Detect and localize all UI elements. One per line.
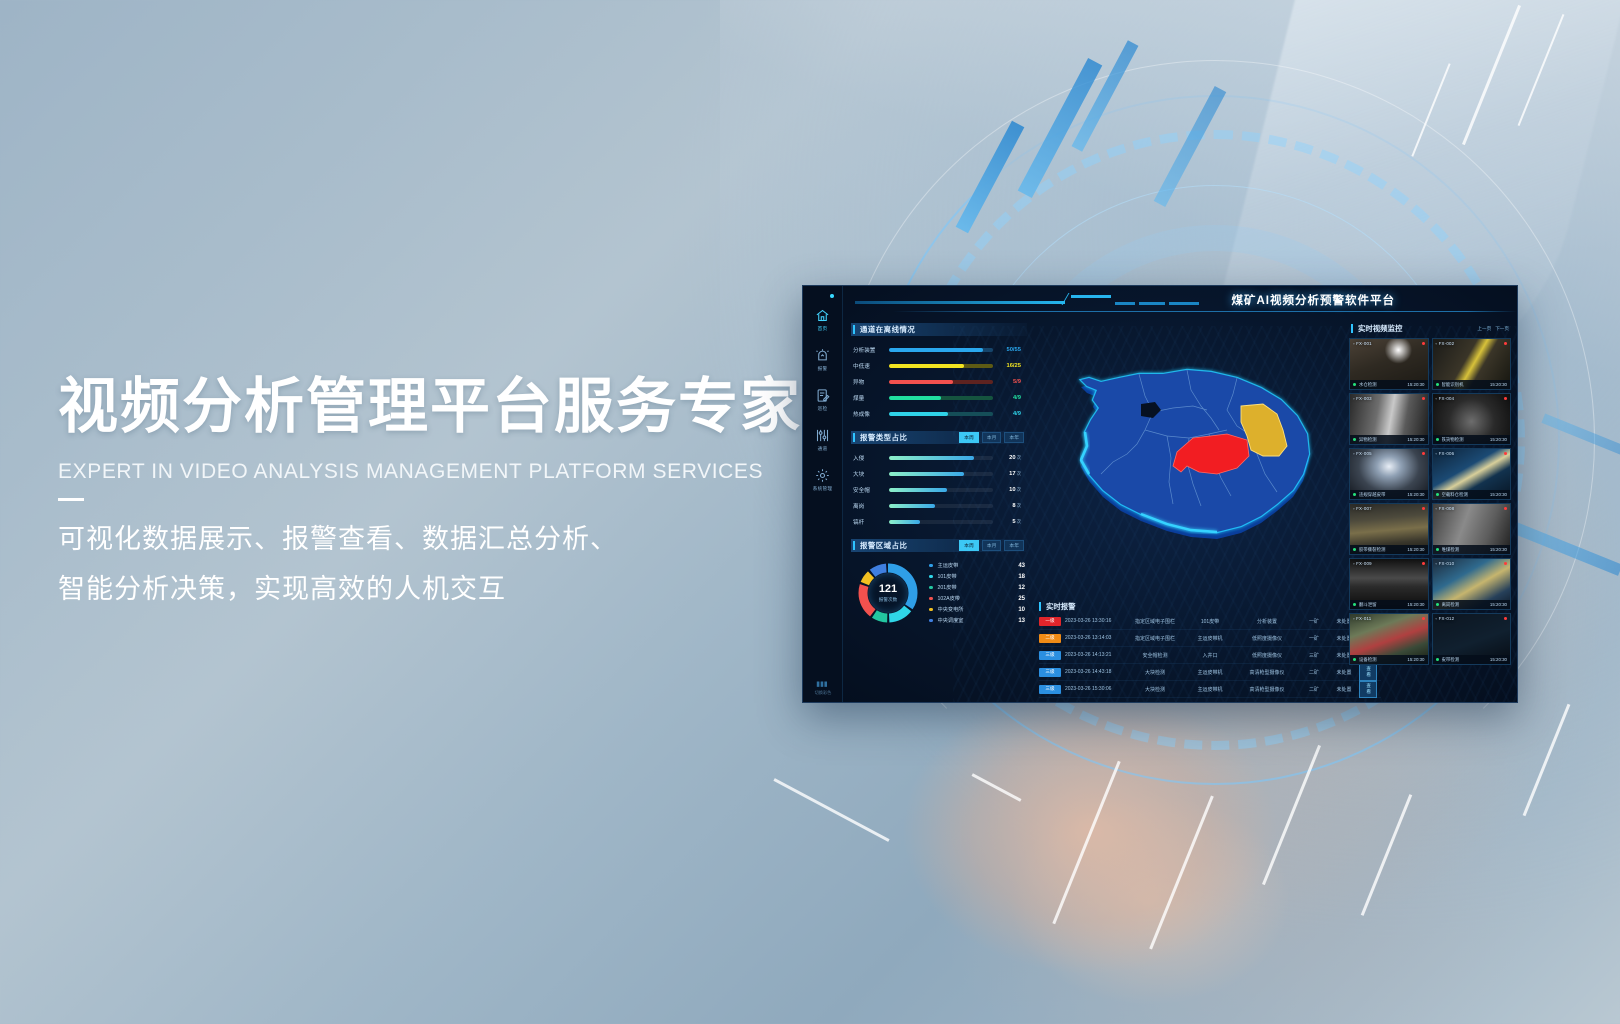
legend-label: 主运皮带 [938, 562, 1019, 569]
alarm-device: 分析装置 [1235, 618, 1299, 625]
alarm-type-track [889, 456, 993, 461]
channel-bar-fill [889, 396, 941, 401]
alarm-type: 安全帽检测 [1125, 652, 1185, 659]
alarm-type-track [889, 504, 993, 509]
realtime-alarm-title: 实时报警 [1046, 601, 1076, 612]
sidebar-item-label: 首页 [804, 326, 842, 332]
channel-bar-track [889, 412, 993, 417]
channel-bar-row: 分析装置50/55 [853, 342, 1023, 358]
video-id-label: ▫ FX-007 [1353, 506, 1372, 511]
hero-subtitle: EXPERT IN VIDEO ANALYSIS MANAGEMENT PLAT… [58, 460, 818, 484]
header-seg-3 [1169, 302, 1199, 305]
video-time-label: 15:20:30 [1490, 657, 1507, 662]
sidebar-item-label: 报警 [804, 366, 842, 372]
channel-panel-title: 通道在离线情况 [860, 324, 915, 335]
legend-value: 13 [1018, 618, 1025, 624]
alarm-area-tabs: 本周本月本年 [959, 540, 1027, 551]
video-footer: 翻斗泄留15:20:30 [1350, 600, 1428, 609]
dashboard-main: 通道在离线情况 分析装置50/55中低速16/25异物5/9煤量4/9热成像4/… [843, 286, 1517, 702]
online-status-icon [1353, 658, 1356, 661]
legend-color-dot [929, 597, 933, 601]
sidebar-footer[interactable]: ▮▮▮ 切换彩色 [803, 675, 843, 696]
channel-bar-track [889, 348, 993, 353]
alarm-type-value: 8次 [993, 503, 1023, 509]
alarm-type-track [889, 488, 993, 493]
channel-bar-value: 4/9 [993, 395, 1023, 401]
alarm-device: 高清枪型摄像仪 [1235, 686, 1299, 693]
video-name-label: 空载料仓检测 [1442, 492, 1490, 498]
legend-label: 102A皮带 [938, 595, 1019, 602]
alarm-time: 2023-03-26 14:43:18 [1065, 669, 1125, 675]
alarm-type-fill [889, 520, 920, 525]
video-tile[interactable]: ▫ FX-010离岗检测15:20:30 [1432, 558, 1512, 610]
alarm-location: 主运皮带机 [1185, 635, 1235, 642]
channel-bar-fill [889, 348, 983, 353]
channel-bar-track [889, 380, 993, 385]
video-time-label: 15:20:30 [1407, 492, 1424, 497]
video-time-label: 15:20:30 [1490, 437, 1507, 442]
dashboard-title: 煤矿AI视频分析预警软件平台 [1232, 292, 1396, 308]
dashboard-monitor: 首页报警巡检通道系统管理 ▮▮▮ 切换彩色 煤矿AI视频分析预警软件平台 [802, 285, 1518, 703]
panel-tick-icon [853, 433, 855, 442]
video-time-label: 15:20:30 [1407, 382, 1424, 387]
channel-bar-value: 5/9 [993, 379, 1023, 385]
table-row: 三级2023-03-26 14:13:21安全帽检测入井口低照度摄像仪三矿未处置… [1039, 647, 1381, 664]
legend-value: 18 [1018, 574, 1025, 580]
video-time-label: 15:20:30 [1490, 382, 1507, 387]
alarm-type: 大块检测 [1125, 669, 1185, 676]
video-name-label: 设备检测 [1359, 657, 1407, 663]
channel-bar-value: 16/25 [993, 363, 1023, 369]
alarm-time: 2023-03-26 13:14:03 [1065, 635, 1125, 641]
alarm-type-row: 大块17次 [853, 466, 1023, 482]
sidebar-item-2[interactable]: 报警 [804, 348, 842, 372]
next-page-button[interactable]: 下一页 [1495, 326, 1509, 332]
alarm-area-panel: 报警区域占比 本周本月本年 121 报警次数 主运皮带43101皮带18201皮… [851, 539, 1027, 630]
legend-value: 10 [1018, 607, 1025, 613]
recording-indicator-icon [1422, 562, 1425, 565]
video-name-label: 智能识别机 [1442, 382, 1490, 388]
channel-icon [804, 428, 842, 444]
alarm-type-tab[interactable]: 本月 [982, 432, 1002, 443]
realtime-alarm-header: 实时报警 [1039, 600, 1381, 613]
video-time-label: 15:20:30 [1407, 657, 1424, 662]
channel-bar-row: 中低速16/25 [853, 358, 1023, 374]
hero-divider [58, 498, 84, 501]
online-status-icon [1436, 548, 1439, 551]
recording-indicator-icon [1504, 562, 1507, 565]
panel-tick-icon [853, 541, 855, 550]
center-column: 实时报警 一级2023-03-26 13:30:16指定区域电子围栏101皮带分… [1033, 320, 1345, 702]
donut-legend-row: 中央变电所10 [929, 604, 1025, 615]
decor-bar-8 [1541, 414, 1620, 457]
table-row: 三级2023-03-26 15:30:06大块检测主运皮带机高清枪型摄像仪二矿未… [1039, 681, 1381, 698]
online-status-icon [1353, 493, 1356, 496]
alarm-mine: 三矿 [1299, 652, 1329, 659]
video-tile[interactable]: ▫ FX-003异物检测15:20:30 [1349, 393, 1429, 445]
recording-indicator-icon [1504, 397, 1507, 400]
video-footer: 堆煤检测15:20:30 [1433, 545, 1511, 554]
alarm-type-label: 入侵 [853, 454, 889, 462]
header-underline [893, 311, 1517, 312]
legend-color-dot [929, 586, 933, 590]
video-time-label: 15:20:30 [1407, 602, 1424, 607]
dashboard-screen: 首页报警巡检通道系统管理 ▮▮▮ 切换彩色 煤矿AI视频分析预警软件平台 [803, 286, 1517, 702]
sidebar-item-3[interactable]: 巡检 [804, 388, 842, 412]
table-row: 一级2023-03-26 13:30:16指定区域电子围栏101皮带分析装置一矿… [1039, 613, 1381, 630]
video-pager: 上一页下一页 [1477, 326, 1511, 332]
alarm-type: 指定区域电子围栏 [1125, 635, 1185, 642]
recording-indicator-icon [1422, 507, 1425, 510]
alarm-location: 主运皮带机 [1185, 669, 1235, 676]
video-id-label: ▫ FX-004 [1436, 396, 1455, 401]
alarm-area-chart: 121 报警次数 主运皮带43101皮带18201皮带12102A皮带25中央变… [851, 552, 1027, 630]
panel-tick-icon [853, 325, 855, 334]
channel-status-panel: 通道在离线情况 分析装置50/55中低速16/25异物5/9煤量4/9热成像4/… [851, 323, 1027, 424]
online-status-icon [1436, 438, 1439, 441]
hero-desc-line-1: 可视化数据展示、报警查看、数据汇总分析、 [58, 515, 818, 565]
alarm-area-tab[interactable]: 本周 [959, 540, 979, 551]
channel-bar-label: 分析装置 [853, 346, 889, 354]
video-tile[interactable]: ▫ FX-005违规穿越皮带15:20:30 [1349, 448, 1429, 500]
legend-label: 201皮带 [938, 584, 1019, 591]
video-time-label: 15:20:30 [1490, 602, 1507, 607]
decor-streak-5 [1149, 795, 1214, 949]
table-row: 三级2023-03-26 14:43:18大块检测主运皮带机高清枪型摄像仪二矿未… [1039, 664, 1381, 681]
alarm-level-badge: 三级 [1039, 668, 1065, 677]
video-tile[interactable]: ▫ FX-006空载料仓检测15:20:30 [1432, 448, 1512, 500]
alarm-type-bar-list: 入侵20次大块17次安全帽10次离岗8次镐杆5次 [851, 444, 1027, 532]
alarm-device: 低照度摄像仪 [1235, 635, 1299, 642]
video-name-label: 胶带撕裂检测 [1359, 547, 1407, 553]
alarm-type-tab[interactable]: 本年 [1004, 432, 1024, 443]
alarm-mine: 一矿 [1299, 618, 1329, 625]
video-time-label: 15:20:30 [1490, 492, 1507, 497]
sidebar: 首页报警巡检通道系统管理 ▮▮▮ 切换彩色 [803, 286, 843, 702]
alarm-type-panel: 报警类型占比 本周本月本年 入侵20次大块17次安全帽10次离岗8次镐杆5次 [851, 431, 1027, 532]
decor-streak-3 [1411, 63, 1450, 156]
alarm-mine: 一矿 [1299, 635, 1329, 642]
legend-value: 25 [1018, 596, 1025, 602]
donut-legend-row: 201皮带12 [929, 582, 1025, 593]
alarm-level-badge: 三级 [1039, 685, 1065, 694]
alarm-type-label: 大块 [853, 470, 889, 478]
decor-streak-9 [1523, 704, 1571, 816]
video-footer: 违规穿越皮带15:20:30 [1350, 490, 1428, 499]
alarm-location: 入井口 [1185, 652, 1235, 659]
video-name-label: 翻斗泄留 [1359, 602, 1407, 608]
alarm-time: 2023-03-26 15:30:06 [1065, 686, 1125, 692]
realtime-alarm-rows: 一级2023-03-26 13:30:16指定区域电子围栏101皮带分析装置一矿… [1039, 613, 1381, 698]
sidebar-items: 首页报警巡检通道系统管理 [804, 308, 842, 492]
video-id-label: ▫ FX-009 [1353, 561, 1372, 566]
channel-bar-label: 中低速 [853, 362, 889, 370]
alarm-type-fill [889, 456, 974, 461]
decor-bar-1 [956, 121, 1025, 234]
decor-streak-10 [972, 773, 1022, 801]
video-footer: 智能识别机15:20:30 [1433, 380, 1511, 389]
online-status-icon [1436, 493, 1439, 496]
channel-bar-label: 煤量 [853, 394, 889, 402]
channel-bar-fill [889, 412, 948, 417]
alarm-type-track [889, 520, 993, 525]
video-id-label: ▫ FX-010 [1436, 561, 1455, 566]
realtime-alarm-table: 实时报警 一级2023-03-26 13:30:16指定区域电子围栏101皮带分… [1039, 600, 1381, 698]
alarm-location: 主运皮带机 [1185, 686, 1235, 693]
video-id-label: ▫ FX-003 [1353, 396, 1372, 401]
decor-streak-2 [1518, 14, 1565, 126]
video-id-label: ▫ FX-002 [1436, 341, 1455, 346]
recording-indicator-icon [1504, 507, 1507, 510]
alarm-type: 大块检测 [1125, 686, 1185, 693]
decor-bar-4 [1154, 86, 1227, 207]
alarm-type-label: 离岗 [853, 502, 889, 510]
alarm-device: 低照度摄像仪 [1235, 652, 1299, 659]
video-id-label: ▫ FX-011 [1353, 616, 1371, 621]
channel-bar-value: 50/55 [993, 347, 1023, 353]
home-icon [804, 308, 842, 324]
gear-icon [804, 468, 842, 484]
video-name-label: 堆煤检测 [1442, 547, 1490, 553]
video-name-label: 异物检测 [1359, 437, 1407, 443]
video-tile[interactable]: ▫ FX-002智能识别机15:20:30 [1432, 338, 1512, 390]
video-time-label: 15:20:30 [1407, 547, 1424, 552]
sidebar-item-label: 巡检 [804, 406, 842, 412]
alarm-type-row: 安全帽10次 [853, 482, 1023, 498]
legend-value: 12 [1018, 585, 1025, 591]
region-map[interactable] [1033, 326, 1345, 574]
video-footer: 铁货物检测15:20:30 [1433, 435, 1511, 444]
dashboard-header: 煤矿AI视频分析预警软件平台 [843, 286, 1517, 320]
video-tile[interactable]: ▫ FX-008堆煤检测15:20:30 [1432, 503, 1512, 555]
panel-tick-icon [1039, 602, 1041, 611]
alarm-type-label: 镐杆 [853, 518, 889, 526]
alarm-area-tab[interactable]: 本月 [982, 540, 1002, 551]
alarm-area-panel-header: 报警区域占比 本周本月本年 [851, 539, 1027, 552]
alarm-icon [804, 348, 842, 364]
recording-indicator-icon [1422, 452, 1425, 455]
header-accent-line-2 [1071, 295, 1111, 298]
video-grid: ▫ FX-001水仓检测15:20:30▫ FX-002智能识别机15:20:3… [1349, 338, 1511, 665]
video-name-label: 违规穿越皮带 [1359, 492, 1407, 498]
recording-indicator-icon [1422, 342, 1425, 345]
channel-bar-value: 4/9 [993, 411, 1023, 417]
right-column: 实时视频监控 上一页下一页 ▫ FX-001水仓检测15:20:30▫ FX-0… [1345, 320, 1517, 702]
left-column: 通道在离线情况 分析装置50/55中低速16/25异物5/9煤量4/9热成像4/… [843, 320, 1033, 702]
alarm-level-badge: 二级 [1039, 634, 1065, 643]
video-footer: 空载料仓检测15:20:30 [1433, 490, 1511, 499]
alarm-type-fill [889, 504, 935, 509]
alarm-type-row: 镐杆5次 [853, 514, 1023, 530]
prev-page-button[interactable]: 上一页 [1477, 326, 1491, 332]
channel-bar-track [889, 396, 993, 401]
video-time-label: 15:20:30 [1490, 547, 1507, 552]
donut-legend-row: 102A皮带25 [929, 593, 1025, 604]
legend-color-dot [929, 608, 933, 612]
table-row: 二级2023-03-26 13:14:03指定区域电子围栏主运皮带机低照度摄像仪… [1039, 630, 1381, 647]
video-tile[interactable]: ▫ FX-011设备检测15:20:30 [1349, 613, 1429, 665]
donut-legend-row: 主运皮带43 [929, 560, 1025, 571]
online-status-icon [1436, 383, 1439, 386]
alarm-level-badge: 一级 [1039, 617, 1065, 626]
legend-label: 中央调度室 [938, 617, 1019, 624]
region-map-svg [1041, 334, 1341, 570]
online-status-icon [1353, 548, 1356, 551]
legend-label: 101皮带 [938, 573, 1019, 580]
decor-streak-7 [1361, 794, 1412, 916]
hero-copy: 视频分析管理平台服务专家 EXPERT IN VIDEO ANALYSIS MA… [58, 375, 818, 615]
alarm-mine: 二矿 [1299, 669, 1329, 676]
legend-value: 43 [1018, 563, 1025, 569]
recording-indicator-icon [1504, 617, 1507, 620]
video-id-label: ▫ FX-008 [1436, 506, 1455, 511]
decor-bar-3 [1072, 40, 1139, 152]
alarm-area-panel-title: 报警区域占比 [860, 540, 907, 551]
alarm-time: 2023-03-26 14:13:21 [1065, 652, 1125, 658]
alarm-type-fill [889, 488, 947, 493]
channel-panel-header: 通道在离线情况 [851, 323, 1027, 336]
page-title: 视频分析管理平台服务专家 [58, 375, 818, 440]
video-tile[interactable]: ▫ FX-012皮带检测15:20:30 [1432, 613, 1512, 665]
alarm-type-tab[interactable]: 本周 [959, 432, 979, 443]
decor-streak-1 [1462, 5, 1521, 145]
video-tile[interactable]: ▫ FX-004铁货物检测15:20:30 [1432, 393, 1512, 445]
alarm-location: 101皮带 [1185, 618, 1235, 625]
donut-chart: 121 报警次数 [855, 560, 921, 626]
sidebar-item-label: 通道 [804, 446, 842, 452]
alarm-type-fill [889, 472, 964, 477]
alarm-type-value: 5次 [993, 519, 1023, 525]
channel-bar-fill [889, 380, 953, 385]
video-footer: 水仓检测15:20:30 [1350, 380, 1428, 389]
recording-indicator-icon [1422, 617, 1425, 620]
legend-color-dot [929, 619, 933, 623]
alarm-type: 指定区域电子围栏 [1125, 618, 1185, 625]
video-footer: 胶带撕裂检测15:20:30 [1350, 545, 1428, 554]
sidebar-item-4[interactable]: 通道 [804, 428, 842, 452]
alarm-area-tab[interactable]: 本年 [1004, 540, 1024, 551]
alarm-mine: 二矿 [1299, 686, 1329, 693]
header-slant [1062, 293, 1070, 305]
video-tile[interactable]: ▫ FX-009翻斗泄留15:20:30 [1349, 558, 1429, 610]
channel-bar-row: 煤量4/9 [853, 390, 1023, 406]
video-id-label: ▫ FX-012 [1436, 616, 1455, 621]
channel-bar-track [889, 364, 993, 369]
online-status-icon [1353, 383, 1356, 386]
video-panel-header: 实时视频监控 上一页下一页 [1349, 322, 1511, 335]
online-status-icon [1353, 603, 1356, 606]
header-accent-line [855, 301, 1065, 304]
alarm-type-track [889, 472, 993, 477]
decor-streak-4 [1052, 761, 1120, 924]
donut-total-value: 121 [879, 584, 897, 595]
video-footer: 异物检测15:20:30 [1350, 435, 1428, 444]
inspection-icon [804, 388, 842, 404]
channel-bar-row: 异物5/9 [853, 374, 1023, 390]
video-name-label: 离岗检测 [1442, 602, 1490, 608]
video-id-label: ▫ FX-006 [1436, 451, 1455, 456]
recording-indicator-icon [1504, 452, 1507, 455]
decor-bar-2 [1018, 58, 1103, 198]
channel-bar-row: 热成像4/9 [853, 406, 1023, 422]
alarm-type-value: 17次 [993, 471, 1023, 477]
decor-streak-6 [1262, 745, 1321, 885]
alarm-type-row: 入侵20次 [853, 450, 1023, 466]
video-footer: 皮带检测15:20:30 [1433, 655, 1511, 664]
video-name-label: 铁货物检测 [1442, 437, 1490, 443]
video-tile[interactable]: ▫ FX-007胶带撕裂检测15:20:30 [1349, 503, 1429, 555]
alarm-type-panel-header: 报警类型占比 本周本月本年 [851, 431, 1027, 444]
alarm-type-value: 20次 [993, 455, 1023, 461]
online-status-icon [1436, 603, 1439, 606]
channel-bar-label: 热成像 [853, 410, 889, 418]
channel-bar-label: 异物 [853, 378, 889, 386]
donut-legend-row: 101皮带18 [929, 571, 1025, 582]
video-id-label: ▫ FX-005 [1353, 451, 1372, 456]
channel-bar-fill [889, 364, 964, 369]
header-seg-2 [1139, 302, 1165, 305]
video-footer: 设备检测15:20:30 [1350, 655, 1428, 664]
video-name-label: 皮带检测 [1442, 657, 1490, 663]
legend-label: 中央变电所 [938, 606, 1019, 613]
header-seg-1 [1115, 302, 1135, 305]
donut-center: 121 报警次数 [868, 573, 908, 613]
alarm-device: 高清枪型摄像仪 [1235, 669, 1299, 676]
alarm-type-label: 安全帽 [853, 486, 889, 494]
alarm-time: 2023-03-26 13:30:16 [1065, 618, 1125, 624]
video-tile[interactable]: ▫ FX-001水仓检测15:20:30 [1349, 338, 1429, 390]
sidebar-item-5[interactable]: 系统管理 [804, 468, 842, 492]
video-id-label: ▫ FX-001 [1353, 341, 1372, 346]
video-footer: 离岗检测15:20:30 [1433, 600, 1511, 609]
recording-indicator-icon [1422, 397, 1425, 400]
alarm-level-badge: 三级 [1039, 651, 1065, 660]
decor-streak-8 [773, 778, 889, 842]
online-status-icon [1436, 658, 1439, 661]
hero-desc-line-2: 智能分析决策，实现高效的人机交互 [58, 565, 818, 615]
alarm-type-panel-title: 报警类型占比 [860, 432, 907, 443]
donut-total-caption: 报警次数 [879, 597, 897, 603]
legend-color-dot [929, 575, 933, 579]
color-bars-icon: ▮▮▮ [803, 675, 843, 690]
sidebar-status-dot [830, 294, 834, 298]
alarm-type-tabs: 本周本月本年 [959, 432, 1027, 443]
sidebar-footer-label: 切换彩色 [815, 690, 832, 695]
panel-tick-icon [1351, 324, 1353, 333]
video-panel-title: 实时视频监控 [1358, 323, 1402, 334]
sidebar-item-label: 系统管理 [804, 486, 842, 492]
sidebar-item-1[interactable]: 首页 [804, 308, 842, 332]
video-time-label: 15:20:30 [1407, 437, 1424, 442]
video-name-label: 水仓检测 [1359, 382, 1407, 388]
channel-bar-list: 分析装置50/55中低速16/25异物5/9煤量4/9热成像4/9 [851, 336, 1027, 424]
legend-color-dot [929, 564, 933, 568]
alarm-type-row: 离岗8次 [853, 498, 1023, 514]
online-status-icon [1353, 438, 1356, 441]
donut-legend-row: 中央调度室13 [929, 615, 1025, 626]
recording-indicator-icon [1504, 342, 1507, 345]
donut-legend: 主运皮带43101皮带18201皮带12102A皮带25中央变电所10中央调度室… [921, 560, 1025, 626]
alarm-type-value: 10次 [993, 487, 1023, 493]
